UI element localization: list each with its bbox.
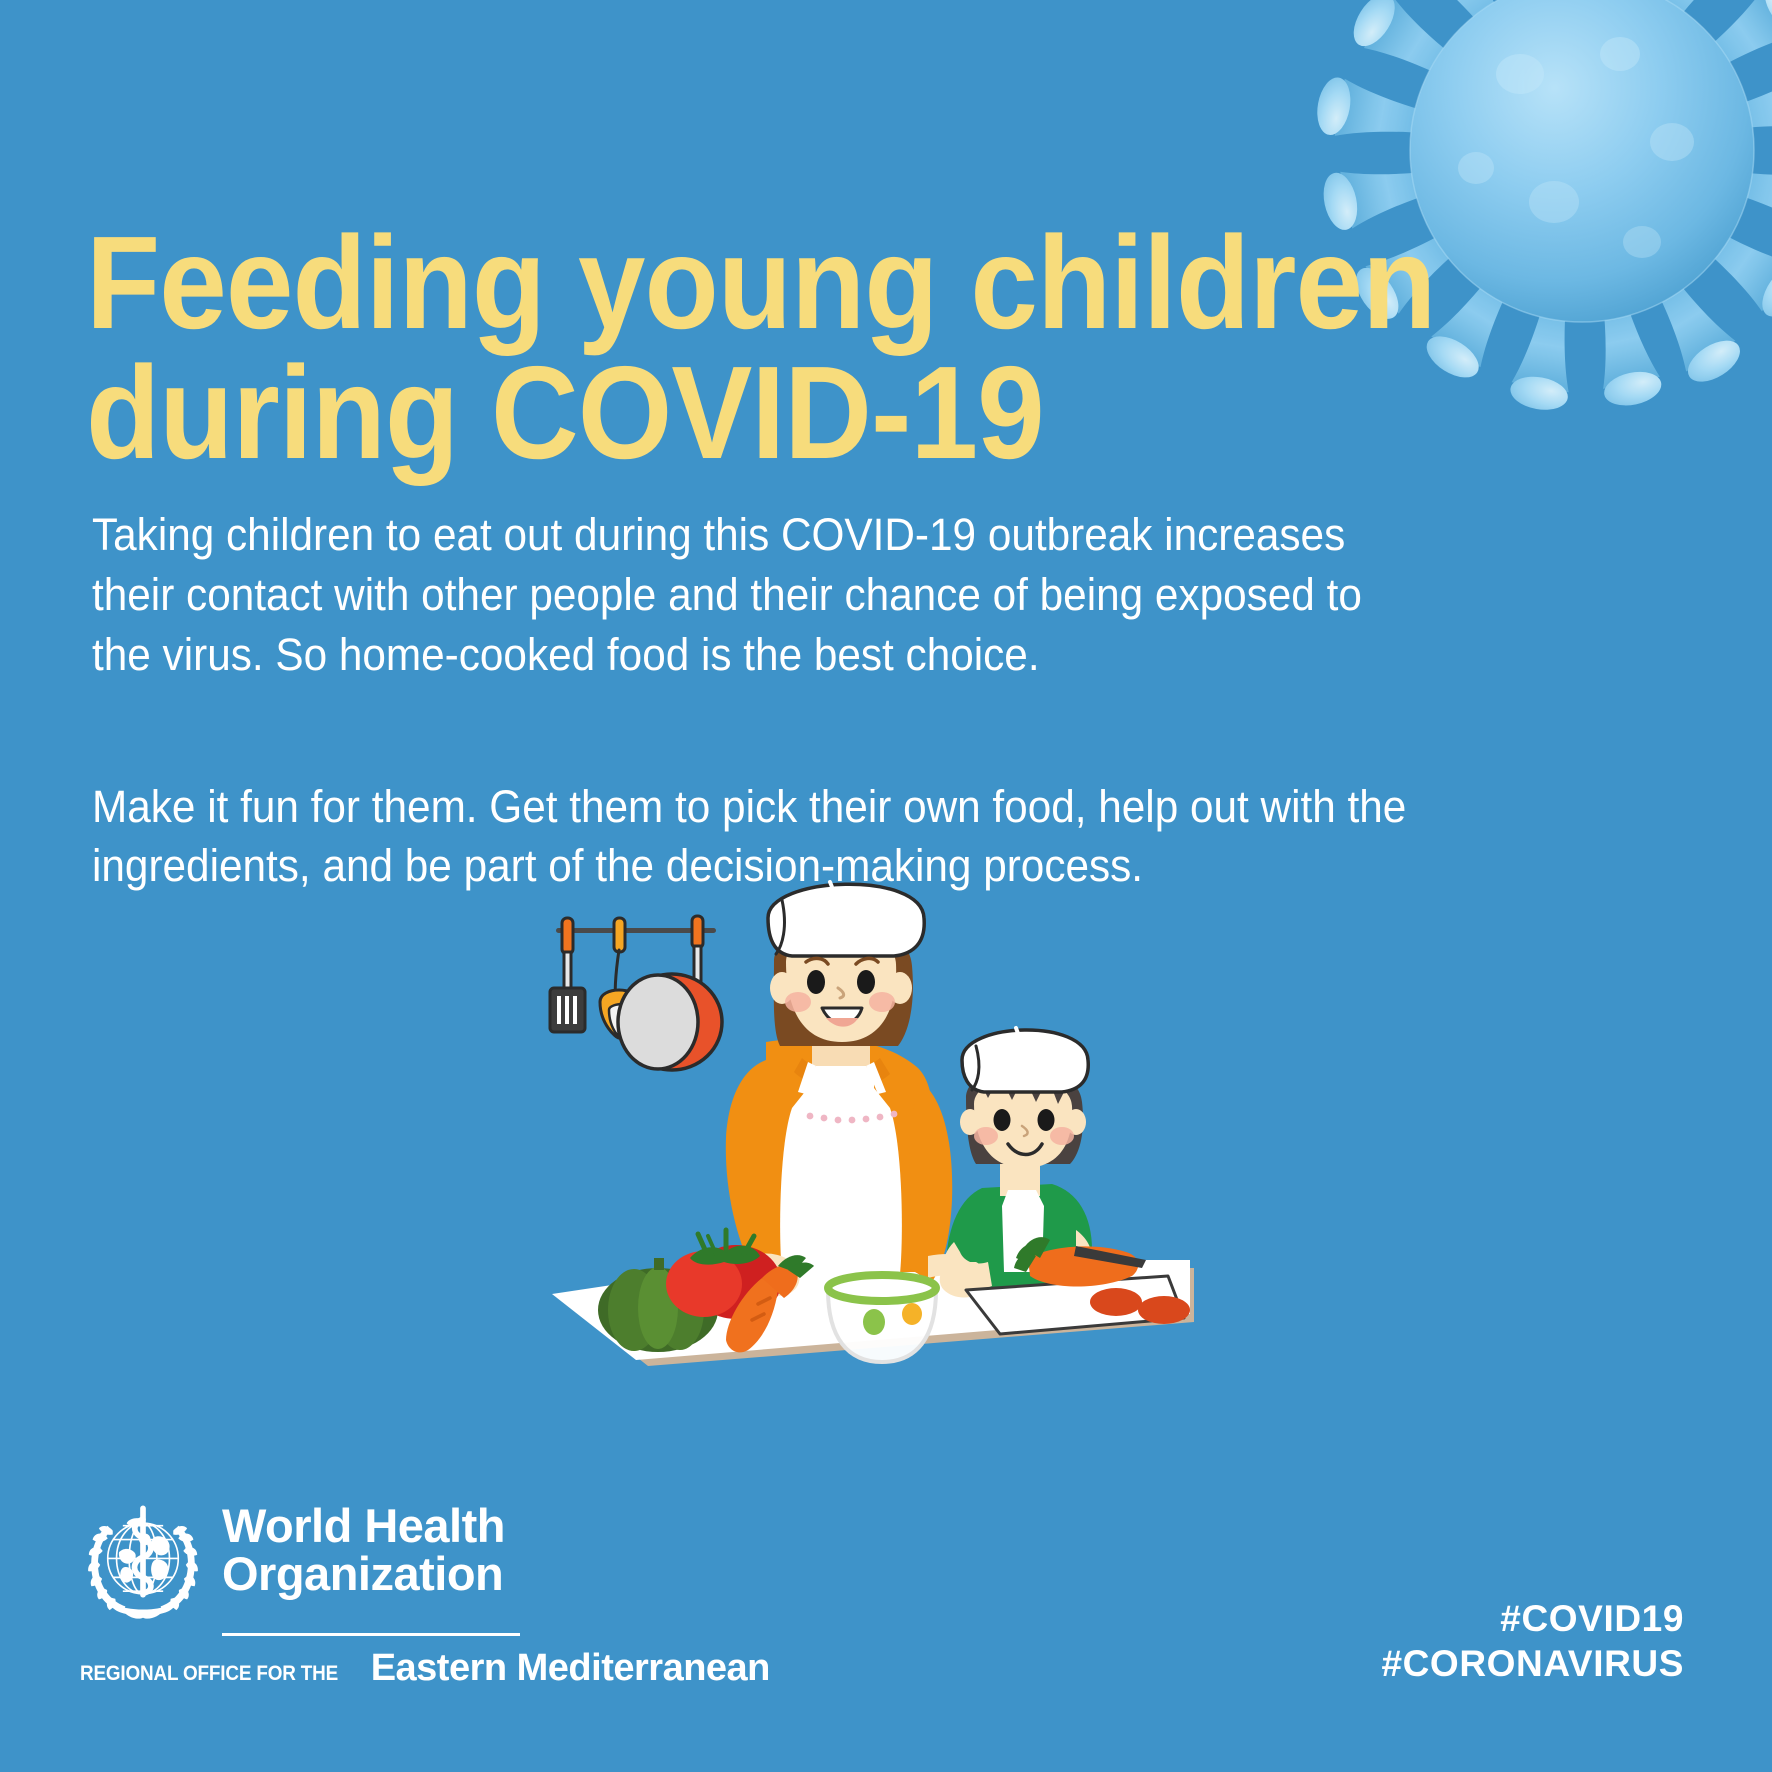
who-name-line-2: Organization <box>222 1550 520 1598</box>
page-title: Feeding young children during COVID-19 <box>86 218 1282 477</box>
paragraph-eat-out-risk: Taking children to eat out during this C… <box>92 505 1408 685</box>
hashtag-covid19: #COVID19 <box>1381 1596 1684 1641</box>
who-logo: World Health Organization REGIONAL OFFIC… <box>80 1494 520 1690</box>
hashtag-coronavirus: #CORONAVIRUS <box>1381 1641 1684 1686</box>
who-divider-rule <box>222 1633 520 1636</box>
who-wordmark: World Health Organization <box>222 1494 520 1598</box>
who-region-prefix: REGIONAL OFFICE FOR THE <box>80 1662 338 1686</box>
hashtag-block: #COVID19 #CORONAVIRUS <box>1381 1596 1684 1686</box>
mother-and-child-cooking-illustration <box>530 870 1230 1430</box>
who-region-line: REGIONAL OFFICE FOR THE Eastern Mediterr… <box>80 1647 520 1690</box>
who-region-name: Eastern Mediterranean <box>371 1647 770 1690</box>
who-emblem-icon <box>80 1498 206 1624</box>
poster-canvas: Feeding young children during COVID-19 T… <box>0 0 1772 1772</box>
body-copy: Taking children to eat out during this C… <box>92 505 1408 896</box>
title-line-1: Feeding young children <box>86 218 1282 347</box>
who-logo-top: World Health Organization <box>80 1494 520 1624</box>
title-line-2: during COVID-19 <box>86 348 1282 477</box>
who-name-line-1: World Health <box>222 1502 520 1550</box>
